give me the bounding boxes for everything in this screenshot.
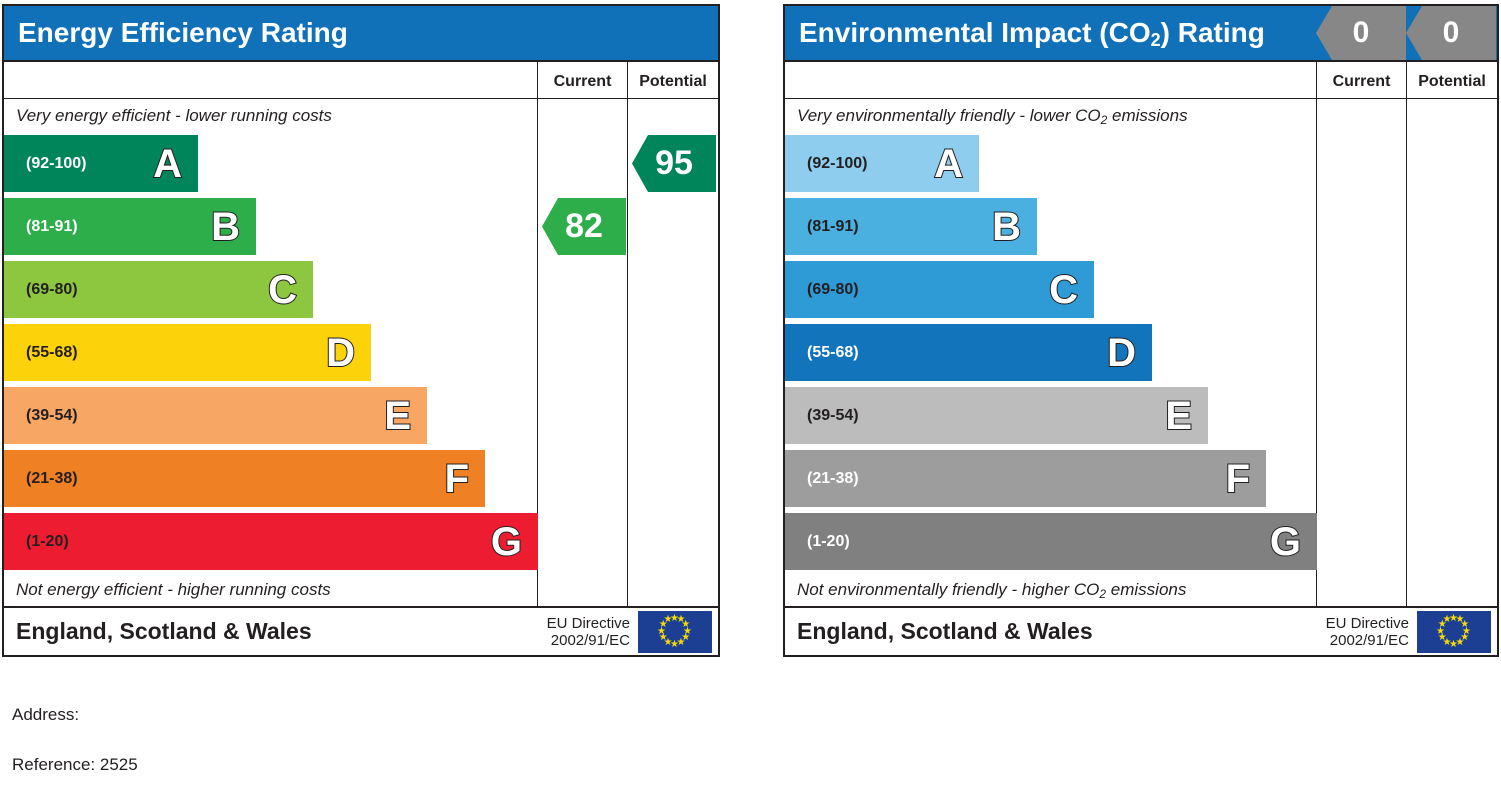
band-bar-g: (1-20)G	[785, 513, 1317, 570]
band-row: (81-91)B	[785, 195, 1316, 258]
band-letter-e: E	[1165, 396, 1192, 436]
eu-star-icon: ★	[664, 615, 673, 625]
band-letter-d: D	[326, 333, 355, 373]
co2-band-list: (92-100)A(81-91)B(69-80)C(55-68)D(39-54)…	[785, 132, 1316, 573]
epc-header-potential: Potential	[628, 62, 718, 98]
band-row: (81-91)B	[4, 195, 537, 258]
epc-potential-value-badge: 95	[632, 135, 716, 192]
epc-top-caption: Very energy efficient - lower running co…	[4, 99, 537, 132]
eu-flag-icon: ★★★★★★★★★★★★	[638, 611, 712, 653]
environmental-impact-title-text: Environmental Impact (CO2) Rating	[799, 17, 1265, 48]
band-range-label: (81-91)	[785, 218, 859, 236]
epc-body: Very energy efficient - lower running co…	[4, 99, 718, 606]
co2-header-potential: Potential	[1407, 62, 1497, 98]
band-range-label: (55-68)	[4, 344, 78, 362]
co2-directive-line2: 2002/91/EC	[1326, 632, 1409, 649]
band-row: (39-54)E	[4, 384, 537, 447]
band-letter-c: C	[1049, 270, 1078, 310]
epc-current-value-badge: 82	[542, 198, 626, 255]
band-letter-e: E	[384, 396, 411, 436]
epc-column-header-row: Current Potential	[4, 60, 718, 99]
epc-potential-column: 95	[628, 99, 718, 606]
co2-bars-column: Very environmentally friendly - lower CO…	[785, 99, 1317, 606]
band-range-label: (69-80)	[4, 281, 78, 299]
band-row: (55-68)D	[785, 321, 1316, 384]
band-row: (69-80)C	[4, 258, 537, 321]
band-row: (39-54)E	[785, 384, 1316, 447]
band-letter-c: C	[268, 270, 297, 310]
band-row: (55-68)D	[4, 321, 537, 384]
band-bar-g: (1-20)G	[4, 513, 538, 570]
band-letter-d: D	[1107, 333, 1136, 373]
band-range-label: (69-80)	[785, 281, 859, 299]
energy-efficiency-title-text: Energy Efficiency Rating	[18, 17, 348, 48]
epc-bars-column: Very energy efficient - lower running co…	[4, 99, 538, 606]
epc-certificate-page: Energy Efficiency Rating Current Potenti…	[0, 0, 1501, 805]
epc-footer: England, Scotland & Wales EU Directive 2…	[4, 606, 718, 655]
band-letter-g: G	[1270, 522, 1301, 562]
eu-flag-icon: ★★★★★★★★★★★★	[1417, 611, 1491, 653]
energy-efficiency-title: Energy Efficiency Rating	[4, 6, 718, 60]
band-range-label: (39-54)	[785, 407, 859, 425]
band-row: (69-80)C	[785, 258, 1316, 321]
band-range-label: (55-68)	[785, 344, 859, 362]
co2-top-caption: Very environmentally friendly - lower CO…	[785, 99, 1316, 132]
band-bar-f: (21-38)F	[785, 450, 1266, 507]
band-bar-c: (69-80)C	[785, 261, 1094, 318]
band-row: (92-100)A	[785, 132, 1316, 195]
epc-directive-line1: EU Directive	[547, 615, 630, 632]
co2-header-current: Current	[1317, 62, 1407, 98]
environmental-impact-title: Environmental Impact (CO2) Rating 0 0	[785, 6, 1497, 60]
band-bar-b: (81-91)B	[4, 198, 256, 255]
epc-header-spacer	[4, 62, 538, 98]
band-range-label: (1-20)	[785, 533, 850, 551]
energy-efficiency-panel: Energy Efficiency Rating Current Potenti…	[2, 4, 720, 657]
band-letter-f: F	[1226, 459, 1250, 499]
band-range-label: (21-38)	[785, 470, 859, 488]
band-range-label: (21-38)	[4, 470, 78, 488]
band-range-label: (81-91)	[4, 218, 78, 236]
reference-label: Reference: 2525	[12, 755, 138, 775]
address-label: Address:	[12, 705, 79, 725]
band-bar-e: (39-54)E	[4, 387, 427, 444]
band-row: (92-100)A	[4, 132, 537, 195]
band-range-label: (39-54)	[4, 407, 78, 425]
band-row: (21-38)F	[785, 447, 1316, 510]
epc-footer-region: England, Scotland & Wales	[16, 618, 547, 645]
co2-footer-directive: EU Directive 2002/91/EC	[1326, 615, 1417, 649]
band-bar-c: (69-80)C	[4, 261, 313, 318]
band-range-label: (92-100)	[785, 155, 867, 173]
band-bar-d: (55-68)D	[4, 324, 371, 381]
band-bar-d: (55-68)D	[785, 324, 1152, 381]
co2-current-value-badge: 0	[1316, 6, 1406, 60]
band-range-label: (92-100)	[4, 155, 86, 173]
band-letter-b: B	[211, 207, 240, 247]
co2-footer-region: England, Scotland & Wales	[797, 618, 1326, 645]
band-letter-b: B	[992, 207, 1021, 247]
band-row: (1-20)G	[785, 510, 1316, 573]
band-letter-f: F	[445, 459, 469, 499]
epc-footer-directive: EU Directive 2002/91/EC	[547, 615, 638, 649]
epc-bottom-caption: Not energy efficient - higher running co…	[4, 573, 537, 606]
band-letter-a: A	[153, 144, 182, 184]
epc-current-column: 82	[538, 99, 628, 606]
environmental-impact-panel: Environmental Impact (CO2) Rating 0 0 Cu…	[783, 4, 1499, 657]
band-bar-e: (39-54)E	[785, 387, 1208, 444]
band-row: (21-38)F	[4, 447, 537, 510]
band-letter-a: A	[934, 144, 963, 184]
band-range-label: (1-20)	[4, 533, 69, 551]
co2-directive-line1: EU Directive	[1326, 615, 1409, 632]
band-bar-a: (92-100)A	[4, 135, 198, 192]
co2-potential-column	[1407, 99, 1497, 606]
epc-directive-line2: 2002/91/EC	[547, 632, 630, 649]
band-bar-f: (21-38)F	[4, 450, 485, 507]
co2-bottom-caption: Not environmentally friendly - higher CO…	[785, 573, 1316, 606]
band-bar-a: (92-100)A	[785, 135, 979, 192]
co2-potential-value-badge: 0	[1406, 6, 1496, 60]
co2-current-column	[1317, 99, 1407, 606]
band-row: (1-20)G	[4, 510, 537, 573]
band-bar-b: (81-91)B	[785, 198, 1037, 255]
epc-band-list: (92-100)A(81-91)B(69-80)C(55-68)D(39-54)…	[4, 132, 537, 573]
co2-column-header-row: Current Potential	[785, 60, 1497, 99]
eu-star-icon: ★	[1443, 615, 1452, 625]
epc-header-current: Current	[538, 62, 628, 98]
co2-body: Very environmentally friendly - lower CO…	[785, 99, 1497, 606]
co2-header-spacer	[785, 62, 1317, 98]
band-letter-g: G	[491, 522, 522, 562]
co2-footer: England, Scotland & Wales EU Directive 2…	[785, 606, 1497, 655]
